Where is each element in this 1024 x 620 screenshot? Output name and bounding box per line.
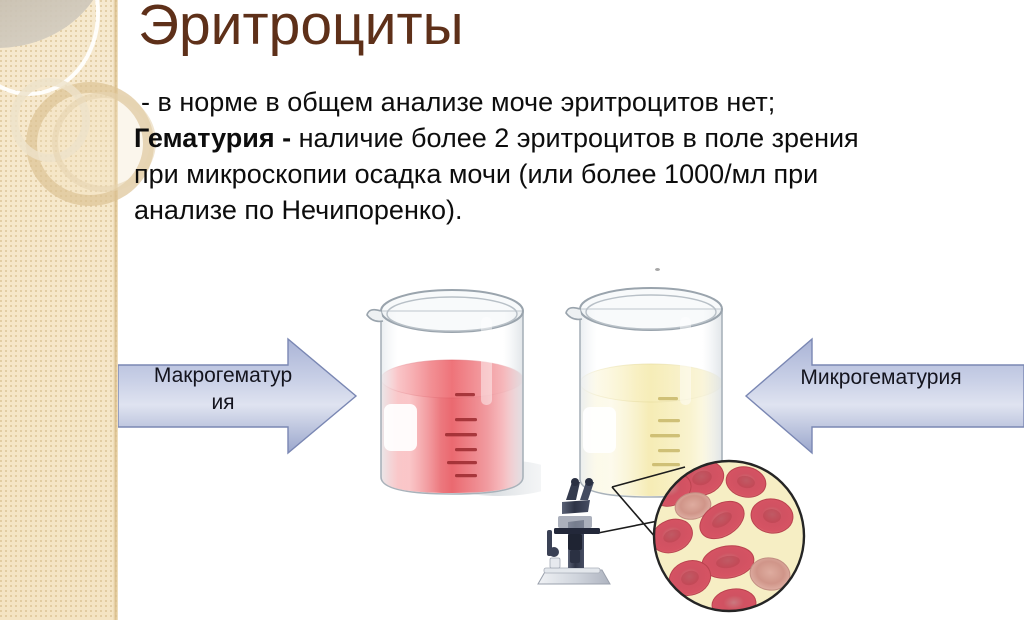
term-hematuria-definition: наличие более 2 эритроцитов в поле зрени… <box>291 123 859 153</box>
body-line-1: - в норме в общем анализе моче эритроцит… <box>141 84 1020 120</box>
beaker-red-illustration <box>363 281 541 511</box>
microscope-icon <box>528 470 620 595</box>
decorative-speck <box>655 268 660 271</box>
arrow-macrohematuria <box>118 337 358 455</box>
term-hematuria: Гематурия - <box>134 123 291 153</box>
body-line-2: Гематурия - наличие более 2 эритроцитов … <box>134 120 1020 156</box>
body-line-4: анализе по Нечипоренко). <box>134 192 1020 228</box>
arrow-microhematuria <box>744 337 1024 455</box>
body-line-3: при микроскопии осадка мочи (или более 1… <box>134 156 1020 192</box>
arrow-left-icon <box>744 337 1024 455</box>
erythrocytes-microscope-view <box>650 458 808 614</box>
arrow-right-icon <box>118 337 358 455</box>
beaker-with-red-urine <box>363 281 541 511</box>
body-text-block: - в норме в общем анализе моче эритроцит… <box>134 84 1020 228</box>
slide-canvas: Эритроциты - в норме в общем анализе моч… <box>0 0 1024 620</box>
page-title: Эритроциты <box>138 0 464 56</box>
